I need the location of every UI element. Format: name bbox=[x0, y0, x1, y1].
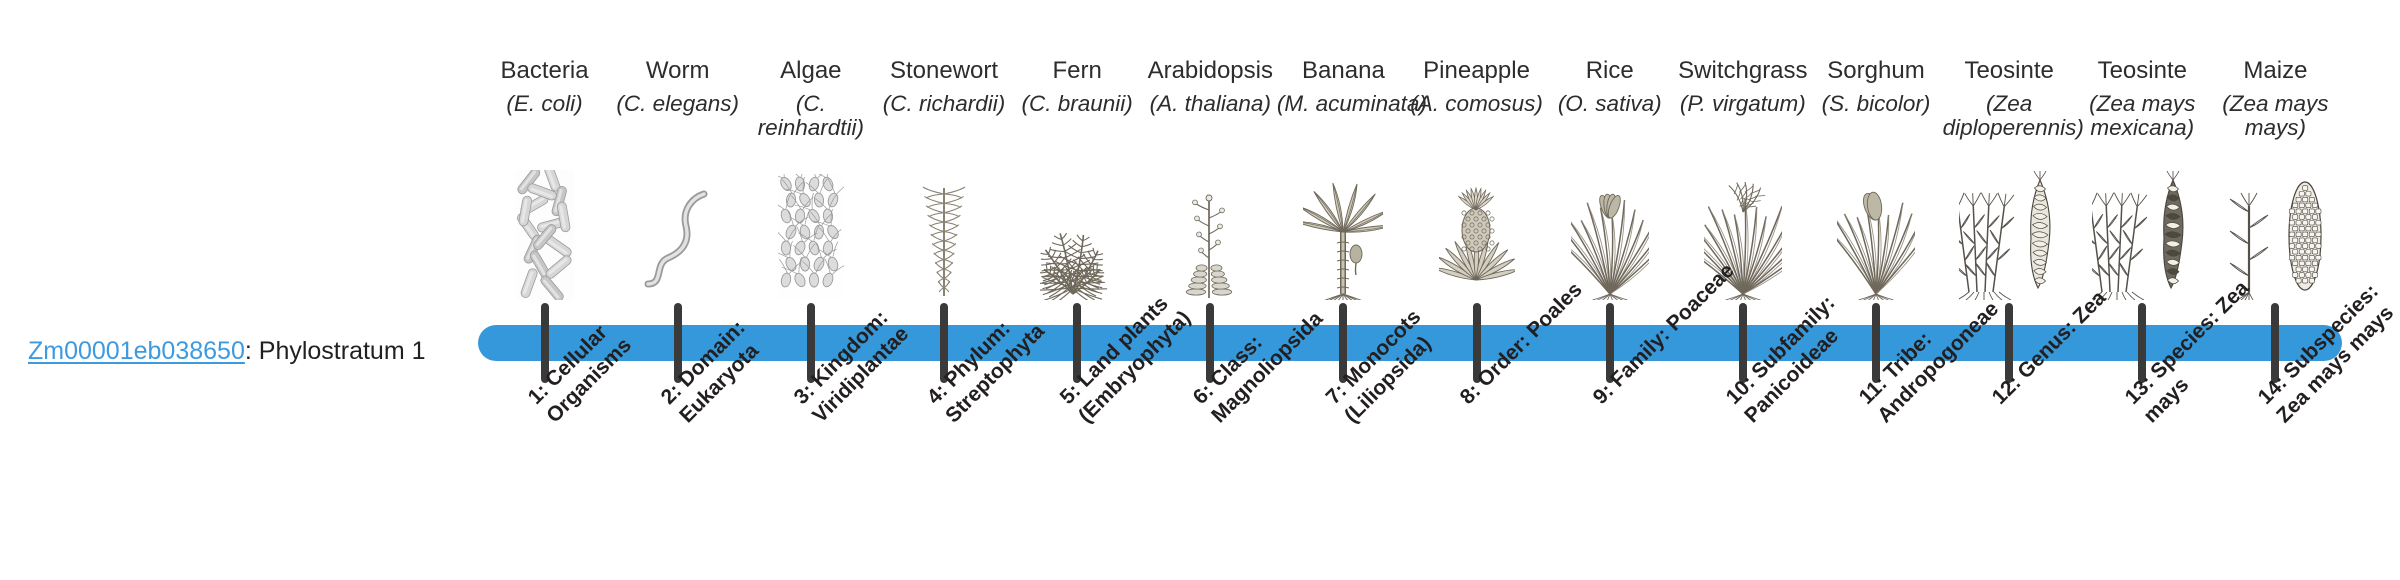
gene-row-label: Zm00001eb038650: Phylostratum 1 bbox=[28, 337, 458, 366]
gene-id-link[interactable]: Zm00001eb038650 bbox=[28, 337, 245, 365]
phylostratum-figure: Zm00001eb038650: Phylostratum 1 Bacteria… bbox=[0, 0, 2400, 580]
gene-label-separator: : bbox=[245, 337, 259, 365]
stratum-labels: 1: Cellular Organisms2: Domain: Eukaryot… bbox=[478, 0, 2342, 580]
phylostratum-value: Phylostratum 1 bbox=[259, 337, 426, 365]
stratum-label-9: 9: Family: Poaceae bbox=[1588, 258, 1740, 410]
